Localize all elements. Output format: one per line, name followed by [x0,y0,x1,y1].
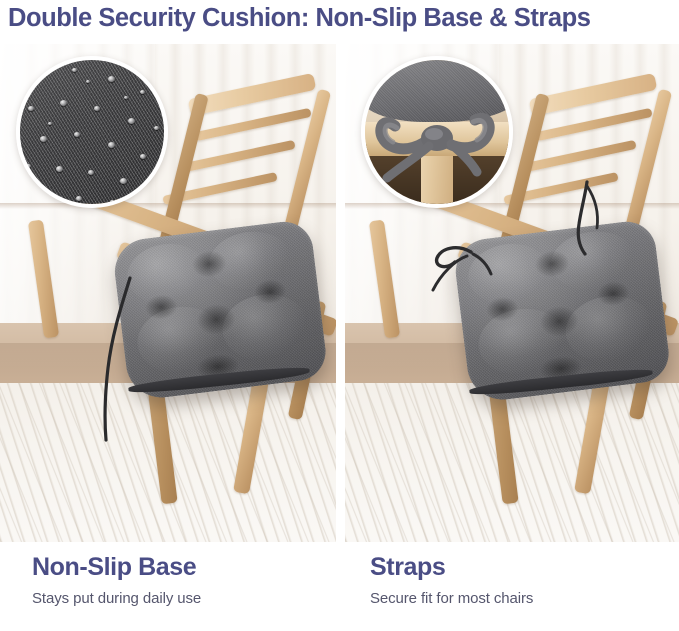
title-bar: Double Security Cushion: Non-Slip Base &… [0,0,679,36]
caption-non-slip-base: Non-Slip Base Stays put during daily use [32,552,201,608]
non-slip-base-closeup [16,56,168,208]
chair-leg-back-left [28,220,59,339]
caption-subtext: Stays put during daily use [32,589,201,608]
page-title: Double Security Cushion: Non-Slip Base &… [8,4,590,33]
strap-knot-closeup [361,56,513,208]
chair-slat-1 [535,108,652,141]
panel-row [0,44,679,542]
strap-knot-scene [365,60,509,204]
tied-strap-front [411,234,501,304]
hanging-tie-left [96,276,156,446]
panel-straps [345,44,679,542]
caption-heading: Non-Slip Base [32,552,201,582]
caption-heading: Straps [370,552,533,582]
caption-straps: Straps Secure fit for most chairs [370,552,533,608]
caption-subtext: Secure fit for most chairs [370,589,533,608]
caption-row: Non-Slip Base Stays put during daily use… [0,552,679,631]
panel-non-slip-base [0,44,336,542]
chair-slat-1 [194,108,311,141]
product-feature-image: Double Security Cushion: Non-Slip Base &… [0,0,679,631]
chair-leg-back-left [369,220,400,339]
tied-strap-back [557,180,627,260]
grip-dot-field [20,60,164,204]
inset-bow-knot [365,60,509,204]
